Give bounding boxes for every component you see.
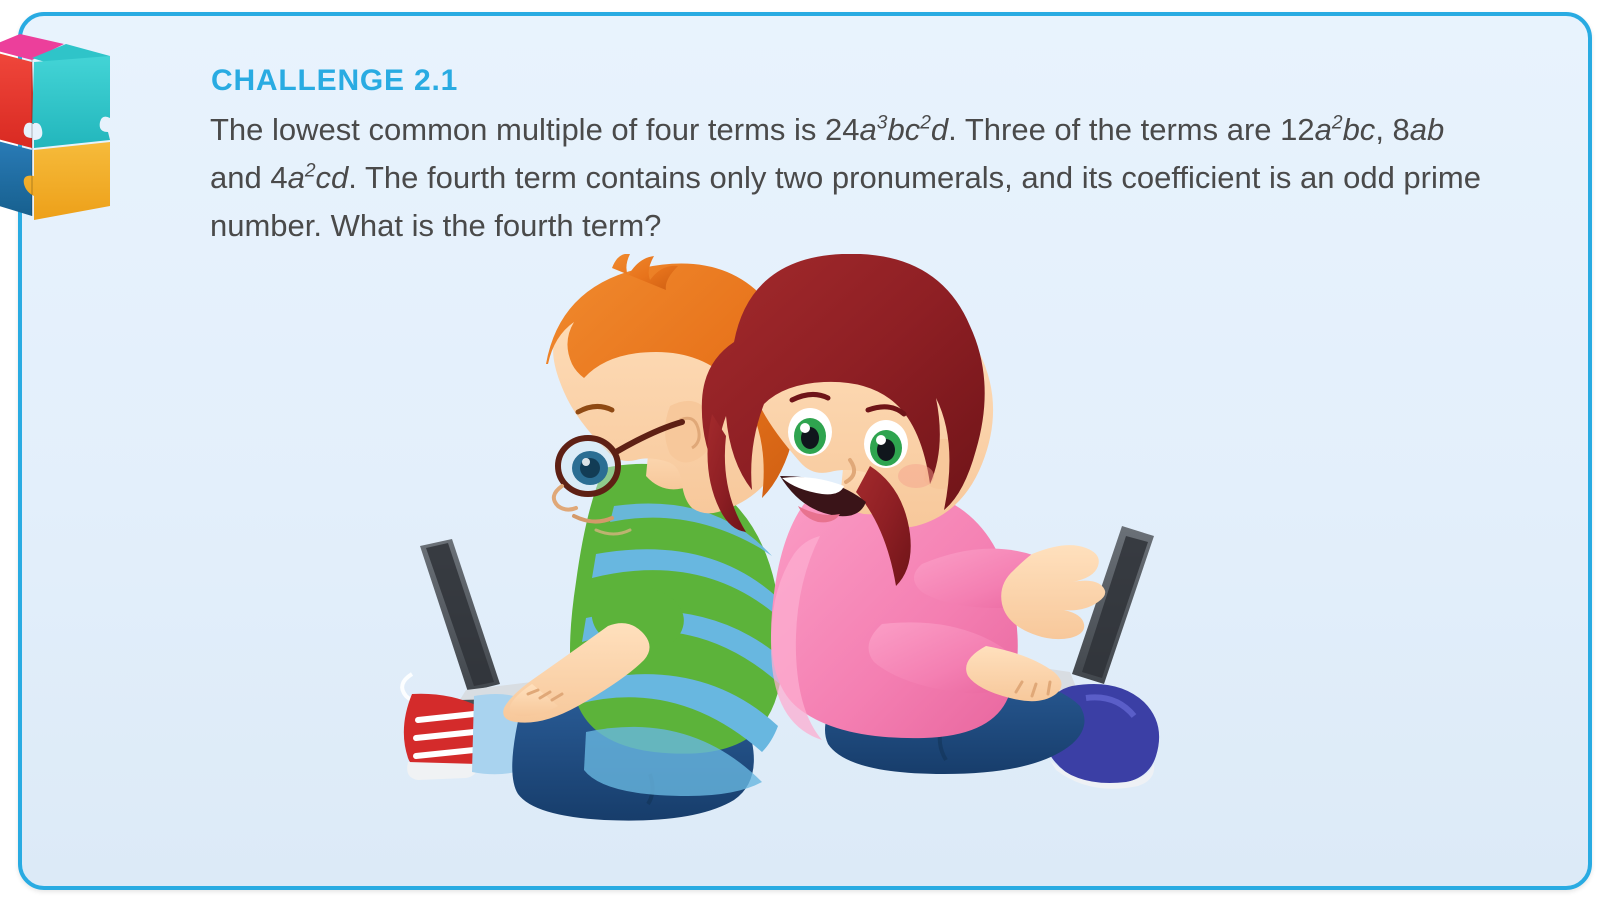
expr-lcm: a3bc2d: [860, 112, 949, 147]
expr-term2-coef: 8: [1393, 112, 1410, 147]
question-line2-tail: . The fourth term contains only two pron…: [348, 160, 1112, 195]
expr-term1: 12a2bc: [1280, 112, 1375, 147]
expr-term3-rest: cd: [316, 160, 349, 195]
girl-eye-left: [788, 408, 832, 456]
expr-term3-coef: 4: [270, 160, 287, 195]
question-line1-lead: The lowest common multiple of four terms…: [210, 112, 860, 147]
expr-term2: 8ab: [1393, 112, 1445, 147]
page-title: CHALLENGE 2.1: [211, 64, 458, 98]
question-line1-tail: . Three of the terms are: [948, 112, 1271, 147]
expr-term1-a: a: [1315, 112, 1332, 147]
expr-term3: 4a2cd: [270, 160, 348, 195]
expr-term1-coef: 12: [1280, 112, 1314, 147]
girl-eye-right: [864, 420, 908, 468]
expr-lcm-bc: bc: [887, 112, 920, 147]
separator-comma: ,: [1375, 112, 1392, 147]
expr-lcm-c-exp: 2: [920, 113, 931, 134]
expr-term3-a: a: [288, 160, 305, 195]
two-kids-with-laptops-illustration: [382, 254, 1182, 824]
boy-shoe: [404, 694, 478, 780]
challenge-panel: CHALLENGE 2.1 The lowest common multiple…: [18, 12, 1592, 890]
expr-lcm-a: a: [860, 112, 877, 147]
panel-inner: CHALLENGE 2.1 The lowest common multiple…: [22, 16, 1588, 886]
expr-term2-rest: ab: [1410, 112, 1444, 147]
expr-term1-rest: bc: [1343, 112, 1376, 147]
expr-lcm-d: d: [931, 112, 948, 147]
separator-and: and: [210, 160, 270, 195]
expr-term1-a-exp: 2: [1332, 113, 1343, 134]
expr-lcm-a-exp: 3: [877, 113, 888, 134]
challenge-question-text: The lowest common multiple of four terms…: [210, 106, 1500, 250]
expr-term3-a-exp: 2: [305, 161, 316, 182]
